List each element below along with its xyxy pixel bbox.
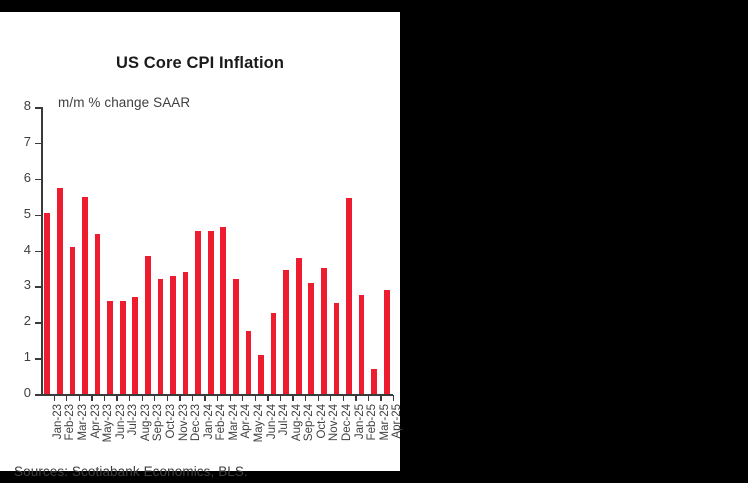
bar (208, 231, 214, 394)
bar (107, 301, 113, 394)
bar (334, 303, 340, 394)
bar (296, 258, 302, 394)
bar (82, 197, 88, 394)
bar (233, 279, 239, 394)
bar (120, 301, 126, 394)
bar (384, 290, 390, 394)
chart-card: US Core CPI Inflation m/m % change SAAR … (0, 12, 400, 471)
bar (308, 283, 314, 394)
bar (183, 272, 189, 394)
bar (158, 279, 164, 394)
bar (220, 227, 226, 394)
bar (132, 297, 138, 394)
bar (95, 234, 101, 394)
bar-series (0, 12, 400, 471)
bar (271, 313, 277, 394)
bar (145, 256, 151, 394)
bar (57, 188, 63, 394)
bar (170, 276, 176, 394)
bar (321, 268, 327, 394)
bar (346, 198, 352, 394)
bar (371, 369, 377, 394)
sources-note: Sources: Scotiabank Economics, BLS. (14, 464, 248, 479)
bar (359, 295, 365, 394)
bar (70, 247, 76, 394)
bar (283, 270, 289, 394)
bar (44, 213, 50, 394)
bar (195, 231, 201, 394)
bar (258, 355, 264, 394)
bar (246, 331, 252, 394)
